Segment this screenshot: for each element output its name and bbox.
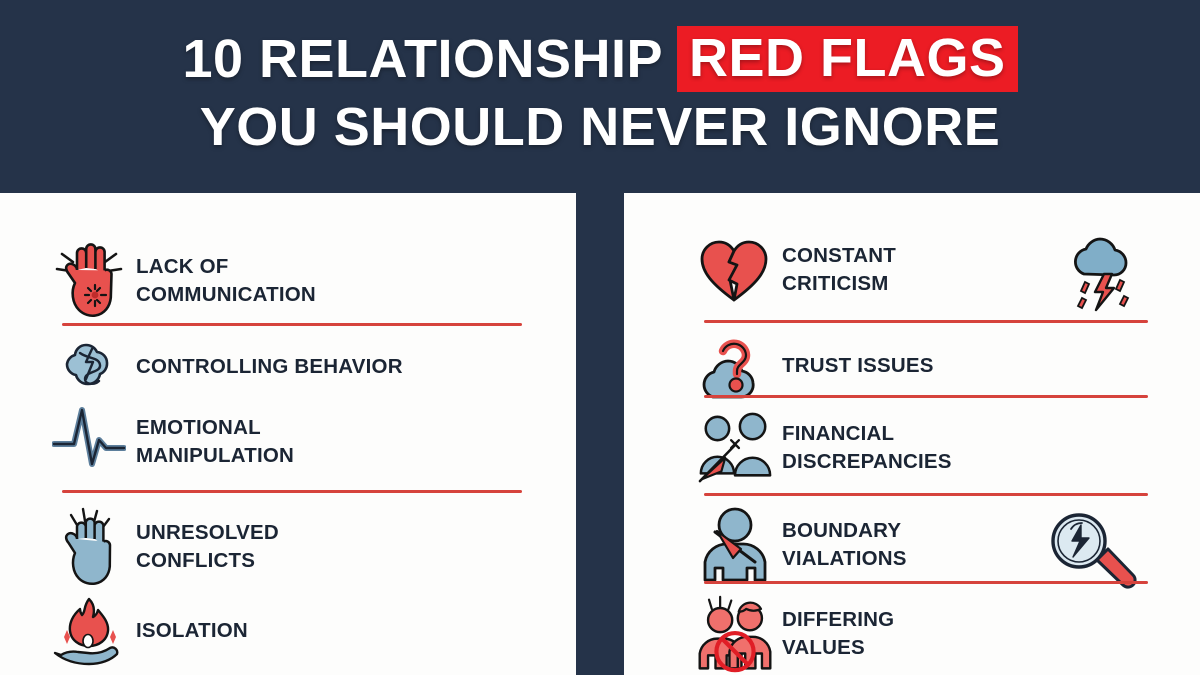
- list-item-label: UNRESOLVED CONFLICTS: [136, 519, 279, 574]
- label-line-2: DISCREPANCIES: [782, 448, 952, 476]
- list-item-trust-issues[interactable]: TRUST ISSUES: [696, 328, 1116, 404]
- list-item-unresolved-conflicts[interactable]: UNRESOLVED CONFLICTS: [50, 499, 550, 595]
- label-line-2: MANIPULATION: [136, 442, 294, 470]
- label-line-2: VIALATIONS: [782, 545, 907, 573]
- list-item-label: CONTROLLING BEHAVIOR: [136, 353, 403, 381]
- right-list: CONSTANT CRITICISM: [624, 193, 1200, 675]
- label-line-2: CRITICISM: [782, 270, 896, 298]
- divider-rule: [704, 320, 1148, 323]
- list-item-lack-of-communication[interactable]: LACK OF COMMUNICATION: [50, 233, 550, 329]
- list-item-label: TRUST ISSUES: [782, 352, 934, 380]
- list-item-label: DIFFERING VALUES: [782, 606, 894, 661]
- infographic-canvas: 10 RELATIONSHIP RED FLAGS YOU SHOULD NEV…: [0, 0, 1200, 675]
- label-line-1: DIFFERING: [782, 606, 894, 634]
- heartbeat-pulse-icon: [50, 402, 128, 482]
- magnifier-bolt-icon: [1038, 505, 1148, 593]
- label-line-1: TRUST ISSUES: [782, 352, 934, 380]
- left-list: LACK OF COMMUNICATION CONTROLLING BEHAVI…: [0, 193, 576, 675]
- storm-cloud-icon: [1060, 229, 1150, 317]
- title-prefix: 10 RELATIONSHIP: [182, 32, 663, 86]
- title-highlight-red-flags: RED FLAGS: [677, 26, 1018, 92]
- list-item-label: EMOTIONAL MANIPULATION: [136, 414, 294, 469]
- two-people-arrow-icon: [696, 412, 774, 484]
- raised-blue-hand-icon: [50, 505, 128, 589]
- center-divider: [576, 193, 624, 675]
- label-line-1: CONTROLLING BEHAVIOR: [136, 353, 403, 381]
- list-item-emotional-manipulation[interactable]: EMOTIONAL MANIPULATION: [50, 398, 550, 486]
- raised-red-hand-icon: [50, 240, 128, 322]
- title-line-1: 10 RELATIONSHIP RED FLAGS: [182, 26, 1017, 92]
- divider-rule: [62, 490, 522, 493]
- list-item-constant-criticism[interactable]: CONSTANT CRITICISM: [696, 223, 1116, 317]
- title-subtitle: YOU SHOULD NEVER IGNORE: [200, 100, 1001, 154]
- divider-rule: [704, 395, 1148, 398]
- tangled-cloud-icon: [50, 335, 128, 399]
- divider-rule: [62, 323, 522, 326]
- broken-heart-icon: [696, 234, 774, 306]
- label-line-1: ISOLATION: [136, 617, 248, 645]
- label-line-1: LACK OF: [136, 253, 316, 281]
- divider-rule: [704, 493, 1148, 496]
- flame-in-hand-icon: [50, 593, 128, 669]
- label-line-1: BOUNDARY: [782, 517, 907, 545]
- right-panel: CONSTANT CRITICISM: [624, 193, 1200, 675]
- label-line-2: COMMUNICATION: [136, 281, 316, 309]
- question-mark-cloud-icon: [696, 329, 774, 403]
- left-panel: LACK OF COMMUNICATION CONTROLLING BEHAVI…: [0, 193, 576, 675]
- label-line-1: UNRESOLVED: [136, 519, 279, 547]
- label-line-1: CONSTANT: [782, 242, 896, 270]
- label-line-1: FINANCIAL: [782, 420, 952, 448]
- title-line-2: YOU SHOULD NEVER IGNORE: [200, 100, 1001, 154]
- label-line-2: CONFLICTS: [136, 547, 279, 575]
- divider-rule: [704, 581, 1148, 584]
- label-line-1: EMOTIONAL: [136, 414, 294, 442]
- list-item-label: LACK OF COMMUNICATION: [136, 253, 316, 308]
- label-line-2: VALUES: [782, 634, 894, 662]
- list-item-isolation[interactable]: ISOLATION: [50, 591, 550, 671]
- list-item-label: FINANCIAL DISCREPANCIES: [782, 420, 952, 475]
- list-item-label: ISOLATION: [136, 617, 248, 645]
- couple-no-sign-icon: [696, 593, 774, 675]
- list-item-differing-values[interactable]: DIFFERING VALUES: [696, 589, 1116, 675]
- header-banner: 10 RELATIONSHIP RED FLAGS YOU SHOULD NEV…: [0, 0, 1200, 193]
- list-item-label: BOUNDARY VIALATIONS: [782, 517, 907, 572]
- list-item-financial-discrepancies[interactable]: FINANCIAL DISCREPANCIES: [696, 405, 1116, 491]
- list-item-controlling-behavior[interactable]: CONTROLLING BEHAVIOR: [50, 333, 550, 401]
- person-crossed-icon: [696, 506, 774, 584]
- list-item-label: CONSTANT CRITICISM: [782, 242, 896, 297]
